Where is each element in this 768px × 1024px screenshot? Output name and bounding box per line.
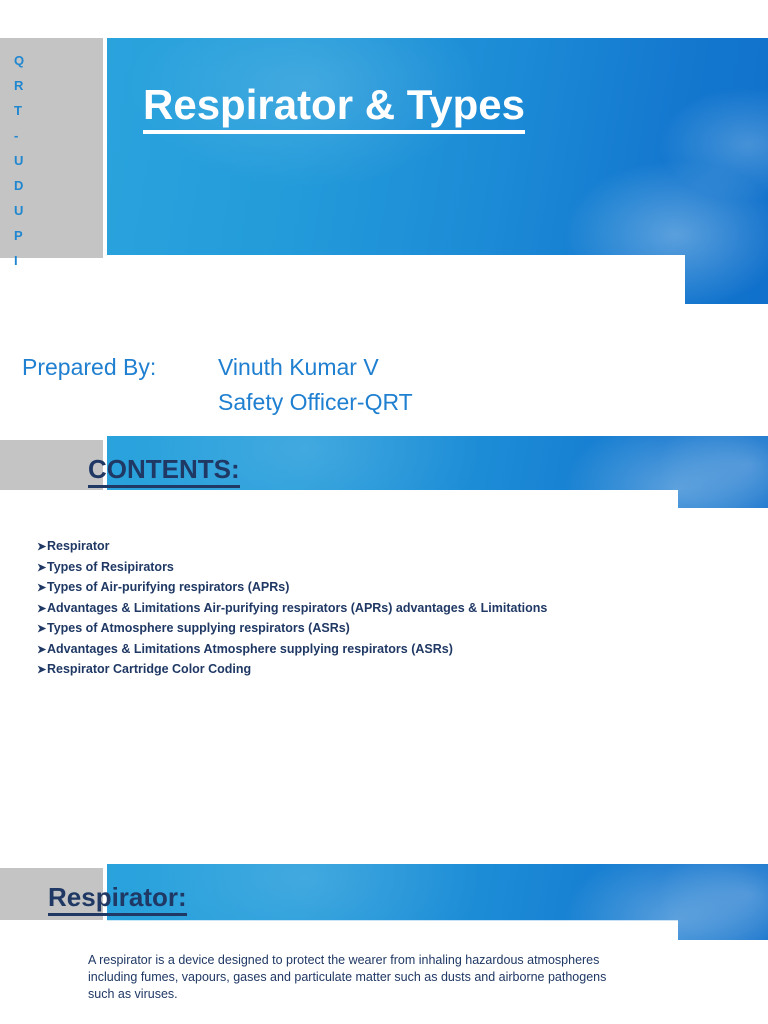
list-item-label: Respirator	[47, 539, 110, 553]
list-item-label: Advantages & Limitations Air-purifying r…	[47, 601, 547, 615]
list-item: ➤Respirator	[37, 537, 737, 558]
contents-list: ➤Respirator ➤Types of Resipirators ➤Type…	[37, 537, 737, 681]
list-item-label: Respirator Cartridge Color Coding	[47, 662, 251, 676]
bullet-arrow-icon: ➤	[37, 579, 47, 599]
org-letter-4: U	[14, 148, 94, 173]
bullet-arrow-icon: ➤	[37, 559, 47, 579]
bullet-arrow-icon: ➤	[37, 620, 47, 640]
org-letter-0: Q	[14, 48, 94, 73]
org-letter-5: D	[14, 173, 94, 198]
respirator-heading-text: Respirator:	[48, 882, 187, 916]
contents-heading-text: CONTENTS:	[88, 454, 240, 488]
respirator-banner-shape	[107, 864, 768, 940]
org-letter-1: R	[14, 73, 94, 98]
list-item-label: Types of Resipirators	[47, 560, 174, 574]
list-item: ➤Types of Resipirators	[37, 558, 737, 579]
bullet-arrow-icon: ➤	[37, 661, 47, 681]
org-letter-7: P	[14, 223, 94, 248]
respirator-heading: Respirator:	[48, 882, 187, 913]
bullet-arrow-icon: ➤	[37, 641, 47, 661]
list-item-label: Types of Atmosphere supplying respirator…	[47, 621, 350, 635]
document-page: Q R T - U D U P I Respirator & Types Pre…	[0, 0, 768, 1024]
respirator-slide-banner	[107, 864, 768, 940]
author-role: Safety Officer-QRT	[218, 385, 413, 420]
page-title: Respirator & Types	[143, 82, 525, 128]
contents-heading: CONTENTS:	[88, 454, 240, 485]
list-item: ➤Types of Air-purifying respirators (APR…	[37, 578, 737, 599]
title-banner-shape	[107, 38, 768, 304]
prepared-by-block: Prepared By: Vinuth Kumar V Safety Offic…	[22, 350, 413, 420]
bullet-arrow-icon: ➤	[37, 600, 47, 620]
prepared-by-names: Vinuth Kumar V Safety Officer-QRT	[218, 350, 413, 420]
list-item-label: Advantages & Limitations Atmosphere supp…	[47, 642, 453, 656]
org-letter-3: -	[14, 123, 94, 148]
list-item-label: Types of Air-purifying respirators (APRs…	[47, 580, 289, 594]
title-banner-sky-texture	[107, 38, 768, 304]
prepared-by-label: Prepared By:	[22, 350, 218, 385]
vertical-org-label: Q R T - U D U P I	[14, 48, 94, 273]
org-letter-2: T	[14, 98, 94, 123]
org-letter-8: I	[14, 248, 94, 273]
title-slide-banner	[107, 38, 768, 304]
org-letter-6: U	[14, 198, 94, 223]
list-item: ➤Advantages & Limitations Air-purifying …	[37, 599, 737, 620]
bullet-arrow-icon: ➤	[37, 538, 47, 558]
respirator-banner-sky-texture	[107, 864, 768, 940]
respirator-definition-paragraph: A respirator is a device designed to pro…	[88, 952, 628, 1003]
page-title-text: Respirator & Types	[143, 81, 525, 134]
list-item: ➤Types of Atmosphere supplying respirato…	[37, 619, 737, 640]
author-name: Vinuth Kumar V	[218, 350, 413, 385]
list-item: ➤Advantages & Limitations Atmosphere sup…	[37, 640, 737, 661]
list-item: ➤Respirator Cartridge Color Coding	[37, 660, 737, 681]
